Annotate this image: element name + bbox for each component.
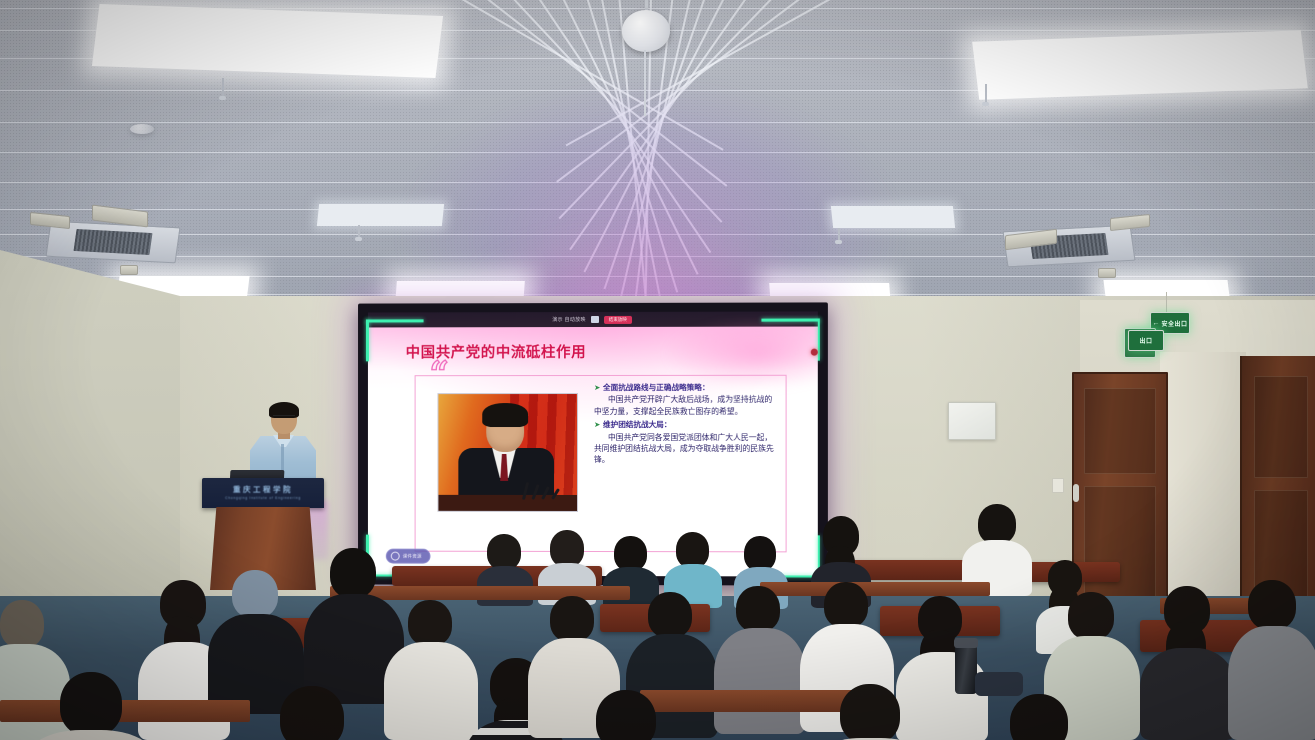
sprinkler-icon bbox=[219, 96, 226, 100]
audience-head bbox=[487, 534, 521, 570]
projection-screen-image: 演示 自动放映 结束放映 中国共产党的中流砥柱作用 “ bbox=[368, 311, 818, 576]
presenter-glasses-icon bbox=[273, 415, 295, 421]
thermos-bottle bbox=[955, 644, 977, 694]
sprinkler-icon bbox=[355, 237, 362, 241]
ceiling-light-panel bbox=[972, 30, 1308, 100]
exit-sign-rod bbox=[1166, 292, 1167, 314]
alignment-bracket-icon bbox=[761, 319, 819, 322]
desk-row bbox=[0, 700, 250, 722]
ceiling-light-panel bbox=[831, 206, 955, 228]
alignment-bracket-icon bbox=[817, 319, 820, 361]
dome-speaker-stem bbox=[644, 50, 646, 116]
ceiling-fixture bbox=[1098, 268, 1116, 278]
audience-head bbox=[736, 586, 780, 632]
audience-body bbox=[714, 628, 806, 734]
ceiling-light-panel bbox=[92, 4, 443, 78]
exit-arrow-icon: ← bbox=[1152, 320, 1159, 327]
slide-heading-2: ➤ 维护团结抗战大局： bbox=[594, 420, 780, 430]
audience-head bbox=[614, 536, 647, 571]
slide-photo bbox=[437, 393, 578, 512]
slide-heading-1-text: 全面抗战路线与正确战略策略： bbox=[603, 383, 710, 392]
audience-head bbox=[1248, 580, 1296, 630]
audience-head bbox=[550, 596, 594, 642]
ceiling-vent-round bbox=[130, 124, 154, 134]
exit-sign-wall[interactable]: 出口 bbox=[1128, 330, 1164, 351]
audience-head bbox=[232, 570, 278, 618]
podium-logo: 重庆工程学院 Chongqing Institute of Engineerin… bbox=[216, 484, 310, 500]
sprinkler-icon bbox=[982, 102, 989, 106]
audience-head bbox=[824, 582, 868, 628]
alignment-bracket-icon bbox=[366, 319, 424, 322]
bullet-arrow-icon: ➤ bbox=[594, 383, 600, 392]
audience-body bbox=[1140, 648, 1236, 740]
sprinkler-icon bbox=[222, 78, 224, 98]
sprinkler-icon bbox=[835, 240, 842, 244]
audience-head bbox=[596, 690, 656, 740]
exit-sign-label-secondary: 出口 bbox=[1139, 336, 1152, 345]
quote-glyph-icon: “ bbox=[430, 362, 449, 386]
photo-figure-hair bbox=[482, 403, 528, 427]
recording-status-dot bbox=[811, 349, 818, 356]
photo-podium-desk bbox=[438, 495, 577, 511]
quote-mark-decoration: “ bbox=[430, 362, 449, 386]
slide-paragraph-2: 中国共产党同各爱国党派团体和广大人民一起，共同维护团结抗战大局，成为夺取战争胜利… bbox=[594, 432, 780, 466]
audience-head bbox=[0, 600, 44, 648]
ceiling bbox=[0, 0, 1315, 312]
audience-head bbox=[330, 548, 376, 598]
desk-row bbox=[760, 582, 990, 596]
audience-head bbox=[1010, 694, 1068, 740]
left-wall bbox=[0, 250, 180, 610]
exit-sign-label: 安全出口 bbox=[1161, 319, 1187, 328]
desk-item-pouch bbox=[975, 672, 1023, 696]
audience-head bbox=[978, 504, 1016, 544]
ceiling-fixture bbox=[120, 265, 138, 275]
sprinkler-icon bbox=[985, 84, 987, 104]
door-panel bbox=[1254, 376, 1308, 478]
audience-head bbox=[840, 684, 900, 740]
wall-notice-frame bbox=[948, 402, 996, 440]
slide-paragraph-1: 中国共产党开辟广大敌后战场，成为坚持抗战的中坚力量，支撑起全民族救亡图存的希望。 bbox=[594, 394, 780, 417]
alignment-bracket-icon bbox=[366, 319, 368, 361]
audience-head bbox=[408, 600, 452, 646]
bullet-arrow-icon: ➤ bbox=[594, 420, 600, 429]
slide-body-text: ➤ 全面抗战路线与正确战略策略： 中国共产党开辟广大敌后战场，成为坚持抗战的中坚… bbox=[594, 383, 780, 469]
lecture-hall-scene: ← 安全出口 出口 演示 自动放映 结束放映 中国共产党的中流砥柱作用 bbox=[0, 0, 1315, 740]
door-handle[interactable] bbox=[1073, 484, 1079, 502]
podium-institution-name-en: Chongqing Institute of Engineering bbox=[216, 496, 310, 500]
ac-vent-louvers bbox=[73, 229, 153, 255]
door-panel bbox=[1084, 388, 1156, 474]
audience-head bbox=[550, 530, 584, 567]
ceiling-light-panel bbox=[317, 204, 444, 226]
podium-top: 重庆工程学院 Chongqing Institute of Engineerin… bbox=[202, 478, 324, 508]
audience-body bbox=[0, 644, 70, 740]
audience-head bbox=[60, 672, 122, 736]
slide-heading-1: ➤ 全面抗战路线与正确战略策略： bbox=[594, 383, 780, 393]
circle-badge-icon bbox=[391, 552, 400, 561]
wall-socket-plate bbox=[1052, 478, 1064, 493]
audience-head bbox=[1068, 592, 1114, 640]
podium-institution-name: 重庆工程学院 bbox=[216, 484, 310, 495]
audience-body bbox=[384, 642, 478, 740]
presentation-app-label: 演示 自动放映 bbox=[552, 316, 585, 323]
audience-body bbox=[1228, 626, 1315, 740]
slide-heading-2-text: 维护团结抗战大局： bbox=[603, 420, 671, 429]
audience-head bbox=[676, 532, 709, 568]
thermos-cap bbox=[954, 638, 978, 648]
dome-speaker-icon bbox=[622, 10, 670, 52]
door-jamb bbox=[1160, 352, 1246, 630]
audience-head bbox=[280, 686, 344, 740]
slide-badge-label: 课件资源 bbox=[403, 553, 422, 559]
audience-head bbox=[648, 592, 692, 638]
audience-head bbox=[744, 536, 776, 571]
slide-resource-badge[interactable]: 课件资源 bbox=[386, 549, 431, 564]
